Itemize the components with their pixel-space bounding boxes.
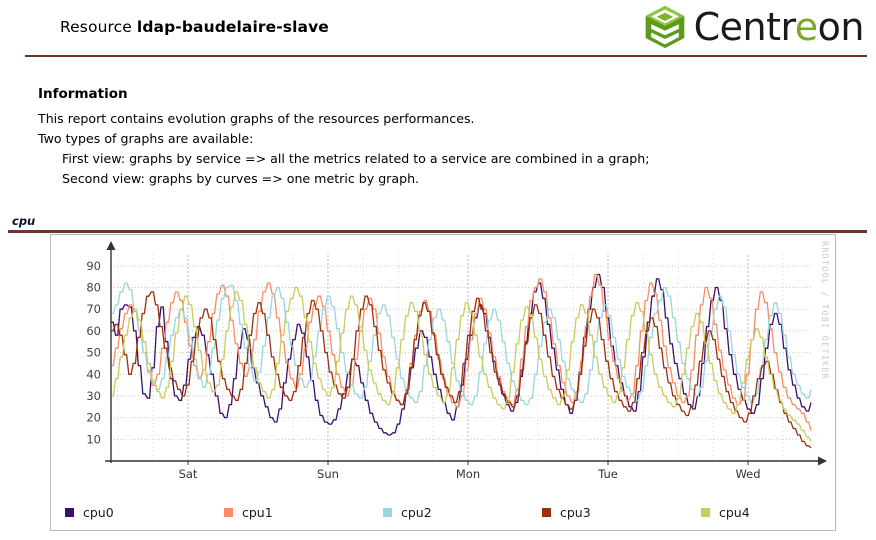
x-axis-tick-Sat: Sat bbox=[179, 467, 198, 481]
information-heading: Information bbox=[38, 86, 738, 102]
x-axis-tick-Sun: Sun bbox=[317, 467, 339, 481]
y-axis-tick-90: 90 bbox=[86, 259, 101, 273]
legend-swatch-cpu0 bbox=[65, 508, 74, 517]
brand-text-part2: on bbox=[818, 5, 864, 49]
y-axis-tick-60: 60 bbox=[86, 324, 101, 338]
legend-item-cpu0[interactable]: cpu0 bbox=[65, 505, 224, 520]
section-label-cpu: cpu bbox=[12, 214, 35, 228]
brand-text-part1: Centr bbox=[694, 5, 795, 49]
legend-label-cpu3: cpu3 bbox=[560, 505, 591, 520]
legend-label-cpu0: cpu0 bbox=[83, 505, 114, 520]
information-line-2: Two types of graphs are available: bbox=[38, 129, 738, 149]
series-line-cpu4 bbox=[111, 288, 811, 442]
legend-label-cpu1: cpu1 bbox=[242, 505, 273, 520]
graph-plot-area: 102030405060708090SatSunMonTueWed bbox=[51, 235, 835, 493]
brand-text-accent: e bbox=[795, 5, 818, 49]
section-divider bbox=[8, 230, 867, 233]
legend-item-cpu4[interactable]: cpu4 bbox=[701, 505, 860, 520]
page-title-prefix: Resource bbox=[60, 18, 137, 36]
legend-swatch-cpu3 bbox=[542, 508, 551, 517]
legend-label-cpu4: cpu4 bbox=[719, 505, 750, 520]
information-line-3: First view: graphs by service => all the… bbox=[38, 149, 738, 169]
x-axis-tick-Tue: Tue bbox=[597, 467, 618, 481]
graph-panel-cpu: 102030405060708090SatSunMonTueWed RRDTOO… bbox=[50, 234, 836, 531]
page-header: Resource ldap-baudelaire-slave Centreon bbox=[0, 0, 876, 56]
x-axis-tick-Wed: Wed bbox=[735, 467, 760, 481]
y-axis-tick-40: 40 bbox=[86, 367, 101, 381]
legend-item-cpu3[interactable]: cpu3 bbox=[542, 505, 701, 520]
legend-swatch-cpu1 bbox=[224, 508, 233, 517]
information-line-4: Second view: graphs by curves => one met… bbox=[38, 169, 738, 189]
brand: Centreon bbox=[642, 4, 864, 50]
rrdtool-watermark: RRDTOOL / TOBI OETIKER bbox=[819, 241, 829, 380]
x-axis-tick-Mon: Mon bbox=[456, 467, 480, 481]
centreon-cube-logo-icon bbox=[642, 4, 688, 50]
legend-label-cpu2: cpu2 bbox=[401, 505, 432, 520]
legend-swatch-cpu4 bbox=[701, 508, 710, 517]
chart-legend: cpu0 cpu1 cpu2 cpu3 cpu4 bbox=[51, 494, 835, 530]
legend-item-cpu1[interactable]: cpu1 bbox=[224, 505, 383, 520]
y-axis-tick-20: 20 bbox=[86, 411, 101, 425]
information-line-1: This report contains evolution graphs of… bbox=[38, 109, 738, 129]
resource-name: ldap-baudelaire-slave bbox=[137, 18, 329, 36]
header-divider bbox=[25, 55, 867, 57]
y-axis-tick-10: 10 bbox=[86, 432, 101, 446]
legend-swatch-cpu2 bbox=[383, 508, 392, 517]
cpu-line-chart: 102030405060708090SatSunMonTueWed bbox=[51, 235, 835, 493]
information-block: Information This report contains evoluti… bbox=[38, 86, 738, 189]
y-axis-tick-70: 70 bbox=[86, 302, 101, 316]
brand-wordmark: Centreon bbox=[694, 8, 864, 46]
y-axis-tick-30: 30 bbox=[86, 389, 101, 403]
legend-item-cpu2[interactable]: cpu2 bbox=[383, 505, 542, 520]
y-axis-tick-80: 80 bbox=[86, 281, 101, 295]
page-title: Resource ldap-baudelaire-slave bbox=[60, 18, 329, 36]
y-axis-tick-50: 50 bbox=[86, 346, 101, 360]
